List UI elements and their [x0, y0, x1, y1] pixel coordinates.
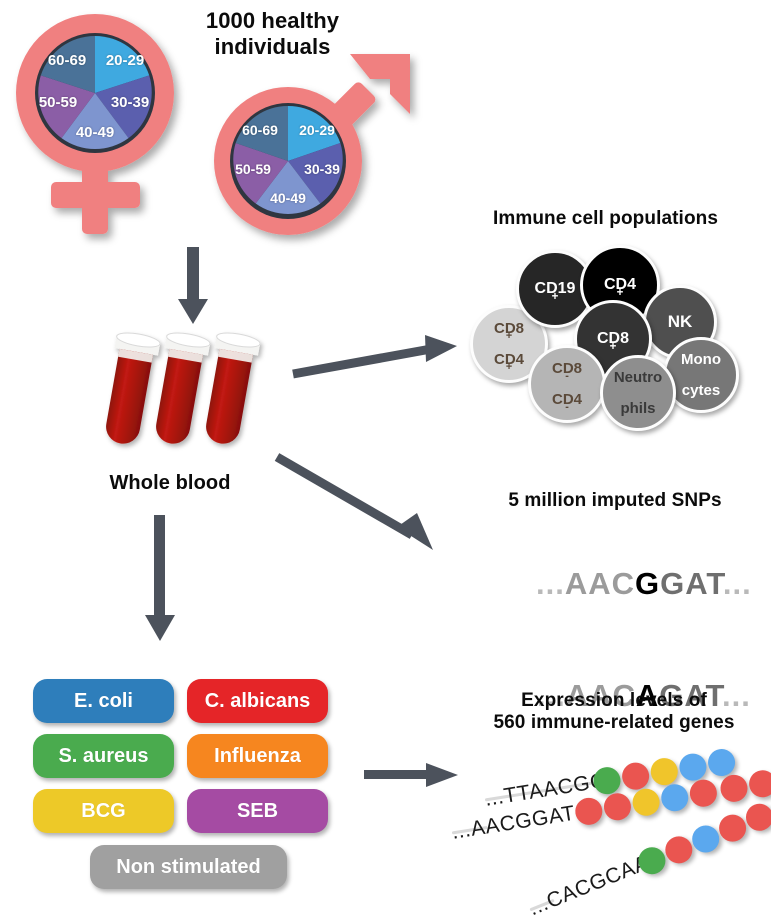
arrow-blood-to-snp: [275, 455, 450, 560]
expression-title-line2: 560 immune-related genes: [458, 712, 770, 734]
cell-label-line1: Mono: [681, 352, 721, 367]
cell-label-line2: cytes: [681, 383, 721, 398]
expression-title-line1: Expression levels of: [458, 690, 770, 712]
stimulus-e-coli[interactable]: E. coli: [33, 679, 174, 723]
female-symbol: 20-29 30-39 40-49 50-59 60-69: [8, 10, 188, 246]
blood-tubes: [98, 333, 268, 458]
arrow-cohort-to-blood: [176, 247, 210, 325]
stimulus-seb[interactable]: SEB: [187, 789, 328, 833]
cell-label-line1: Neutro: [614, 370, 662, 385]
stimulus-label: S. aureus: [58, 745, 148, 768]
snp-prefix: ...: [536, 566, 565, 601]
cell-neutrophils[interactable]: Neutro phils: [600, 355, 676, 431]
strand-sequence: ...CACGCAA: [526, 851, 653, 921]
stimulus-non-stimulated[interactable]: Non stimulated: [90, 845, 287, 889]
stimulus-label: C. albicans: [205, 690, 311, 713]
cohort-heading-line1: 1000 healthy: [170, 8, 375, 34]
rna-bead: [573, 796, 604, 827]
age-pie-male: [233, 106, 342, 214]
rna-bead: [719, 773, 750, 804]
stimulus-label: BCG: [81, 800, 125, 823]
stimulus-bcg[interactable]: BCG: [33, 789, 174, 833]
snp-variant: G: [635, 566, 660, 601]
stimulus-label: E. coli: [74, 690, 133, 713]
stimulus-s-aureus[interactable]: S. aureus: [33, 734, 174, 778]
stimulus-label: Non stimulated: [116, 856, 260, 879]
strand-sequence: ...AACGGAT: [450, 802, 577, 845]
arrow-stimuli-to-expression: [364, 760, 460, 790]
rna-bead: [602, 791, 633, 822]
rna-bead: [688, 778, 719, 809]
cell-cd8-cd4-double-negative[interactable]: CD8- CD4-: [528, 345, 606, 423]
immune-title: Immune cell populations: [448, 208, 763, 230]
stimulus-label: Influenza: [214, 745, 301, 768]
rna-bead: [631, 787, 662, 818]
snp-sequence-row: ...AACGGAT...: [470, 530, 760, 638]
stimulus-c-albicans[interactable]: C. albicans: [187, 679, 328, 723]
arrow-blood-to-immune: [291, 330, 461, 378]
snp-left: AAC: [565, 566, 635, 601]
stimulus-influenza[interactable]: Influenza: [187, 734, 328, 778]
figure-canvas: 1000 healthy individuals: [0, 0, 771, 922]
snp-suffix: ...: [723, 566, 752, 601]
cell-label-line2: phils: [614, 401, 662, 416]
stimulus-label: SEB: [237, 800, 278, 823]
snp-title: 5 million imputed SNPs: [470, 490, 760, 512]
age-pie-female: [38, 36, 151, 149]
rna-bead: [659, 782, 690, 813]
blood-tube: [98, 330, 161, 447]
expression-title: Expression levels of 560 immune-related …: [458, 690, 770, 734]
immune-cell-cluster: CD8+ CD4+ CD19+ CD4+ NK CD8+ Mono c: [470, 245, 765, 430]
snp-right: GAT: [660, 566, 723, 601]
male-symbol: 20-29 30-39 40-49 50-59 60-69: [200, 36, 420, 246]
cell-label: NK: [668, 313, 693, 330]
arrow-blood-to-stimuli: [143, 515, 177, 643]
whole-blood-label: Whole blood: [70, 472, 270, 495]
rna-bead: [747, 768, 771, 799]
